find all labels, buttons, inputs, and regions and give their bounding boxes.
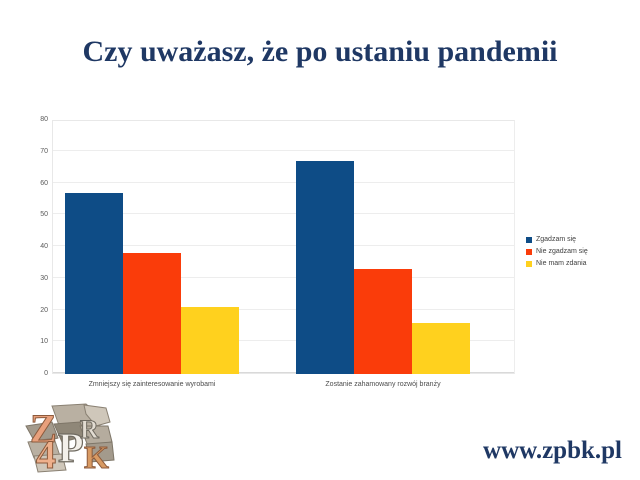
- svg-text:K: K: [84, 439, 109, 475]
- bar-chart: 01020304050607080 Zmniejszy się zaintere…: [18, 106, 622, 396]
- legend-swatch-icon: [526, 249, 532, 255]
- legend-label: Nie mam zdania: [536, 260, 587, 268]
- legend-label: Nie zgadzam się: [536, 248, 588, 256]
- category-label: Zmniejszy się zainteresowanie wyrobami: [52, 380, 252, 389]
- legend-swatch-icon: [526, 261, 532, 267]
- website-url: www.zpbk.pl: [483, 436, 622, 466]
- legend-item[interactable]: Nie mam zdania: [526, 258, 622, 269]
- svg-text:4: 4: [36, 432, 56, 476]
- bar-2-0[interactable]: [181, 307, 239, 374]
- chart-legend: Zgadzam sięNie zgadzam sięNie mam zdania: [526, 234, 622, 270]
- bar-2-1[interactable]: [412, 323, 470, 374]
- bar-0-1[interactable]: [296, 161, 354, 374]
- bar-1-1[interactable]: [354, 269, 412, 374]
- zpbk-logo: Z 4 P R K: [14, 402, 118, 476]
- bar-0-0[interactable]: [65, 193, 123, 374]
- legend-item[interactable]: Nie zgadzam się: [526, 246, 622, 257]
- legend-swatch-icon: [526, 237, 532, 243]
- legend-label: Zgadzam się: [536, 236, 576, 244]
- category-label: Zostanie zahamowany rozwój branży: [283, 380, 483, 389]
- legend-item[interactable]: Zgadzam się: [526, 234, 622, 245]
- bar-1-0[interactable]: [123, 253, 181, 374]
- page-title: Czy uważasz, że po ustaniu pandemii: [0, 34, 640, 70]
